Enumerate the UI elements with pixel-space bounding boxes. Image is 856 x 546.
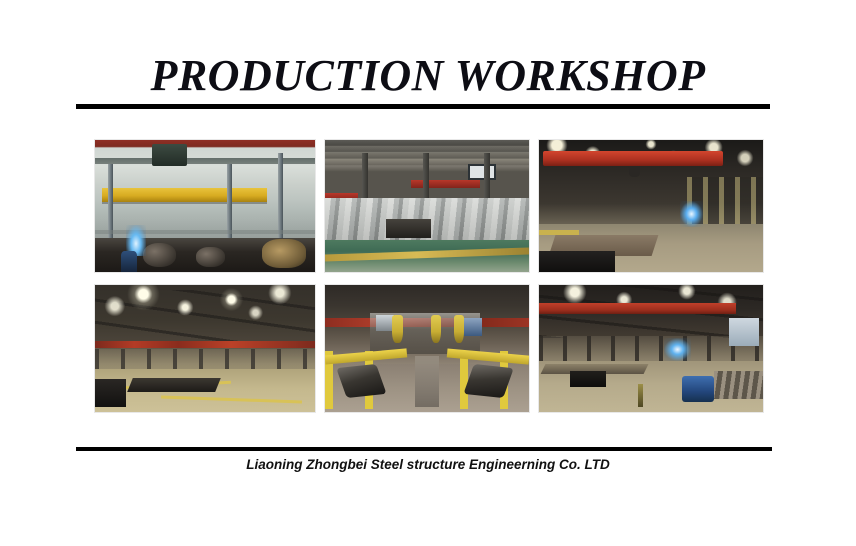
photo-6-crane-bridge (539, 303, 736, 314)
photo-6-bollard (638, 384, 644, 407)
photo-6-material-stack (714, 371, 763, 399)
photo-1-steel-coil (143, 243, 176, 267)
gallery-photo-6[interactable]: Assembly hall with red crane bridge, lon… (539, 285, 763, 412)
photo-6-welding-arc (664, 338, 691, 361)
gallery-photo-4[interactable]: Wide workshop hall with rows of bright c… (95, 285, 315, 412)
photo-5-conveyor-centre (415, 356, 439, 407)
photo-6-blue-machine (682, 376, 713, 401)
photo-5-welding-head (454, 315, 464, 343)
photo-5-welding-head (392, 315, 402, 343)
photo-3-crane-hook (629, 166, 640, 177)
photo-1-steel-coil (196, 247, 225, 267)
photo-gallery: Factory bay with yellow overhead crane g… (95, 140, 763, 412)
footer-block: Liaoning Zhongbei Steel structure Engine… (0, 456, 856, 474)
footer-divider (76, 447, 772, 451)
photo-2-red-beam (411, 180, 480, 188)
photo-2-signage-box (468, 164, 496, 180)
photo-2-dark-bundle (386, 219, 431, 237)
title-divider (76, 104, 770, 109)
gallery-photo-5[interactable]: Yellow roller conveyor frames carrying d… (325, 285, 529, 412)
photo-4-dark-material (95, 379, 126, 407)
photo-6-window (729, 318, 758, 346)
gallery-photo-3[interactable]: Long production hall with red overhead c… (539, 140, 763, 272)
company-name: Liaoning Zhongbei Steel structure Engine… (0, 456, 856, 474)
photo-6-dark-material (570, 371, 606, 386)
photo-1-steel-coil (262, 239, 306, 268)
title-block: PRODUCTION WORKSHOP (0, 52, 856, 100)
photo-1-crane-hoist (152, 144, 187, 166)
photo-3-crane-bridge (543, 151, 722, 167)
photo-1-worker (121, 251, 136, 272)
photo-5-control-cabinet (464, 318, 482, 336)
slide-canvas: PRODUCTION WORKSHOP Factory bay with yel… (0, 0, 856, 546)
photo-5-welding-head (431, 315, 441, 343)
photo-4-crane-rail (95, 341, 315, 349)
page-title: PRODUCTION WORKSHOP (0, 52, 856, 100)
gallery-photo-2[interactable]: Storage bay with stacked galvanized stee… (325, 140, 529, 272)
photo-1-crane-girder (102, 188, 267, 203)
photo-3-welding-arc (680, 201, 702, 227)
gallery-photo-1[interactable]: Factory bay with yellow overhead crane g… (95, 140, 315, 272)
photo-3-h-beam (539, 251, 615, 272)
photo-4-steel-beam (127, 378, 221, 392)
